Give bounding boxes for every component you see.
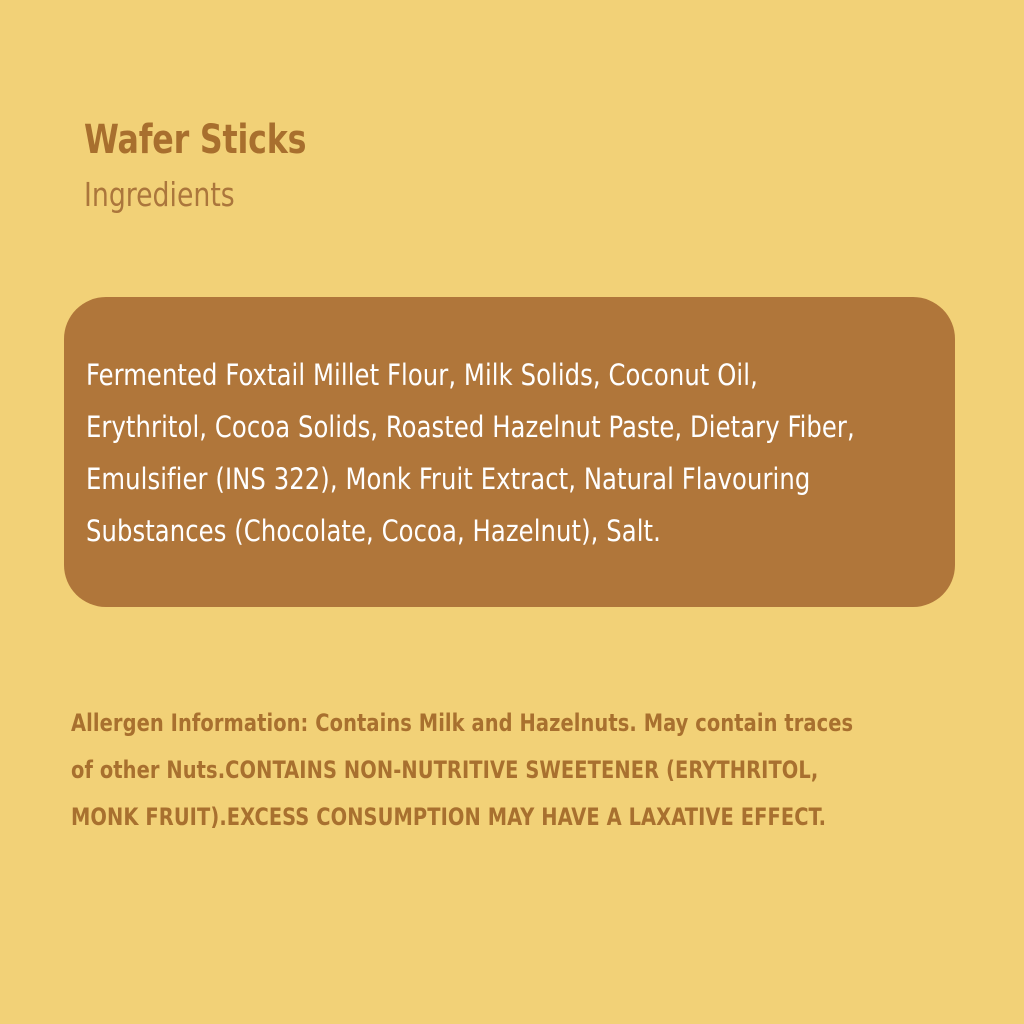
section-label-ingredients: Ingredients	[84, 176, 876, 214]
allergen-information-text: Allergen Information: Contains Milk and …	[71, 700, 881, 841]
ingredients-panel: Fermented Foxtail Millet Flour, Milk Sol…	[64, 297, 955, 607]
ingredients-label-card: Wafer Sticks Ingredients Fermented Foxta…	[0, 0, 1024, 1024]
ingredients-text: Fermented Foxtail Millet Flour, Milk Sol…	[86, 349, 857, 557]
page-title: Wafer Sticks	[84, 118, 858, 162]
label-header: Wafer Sticks Ingredients	[84, 118, 964, 214]
allergen-information-block: Allergen Information: Contains Milk and …	[71, 700, 971, 841]
